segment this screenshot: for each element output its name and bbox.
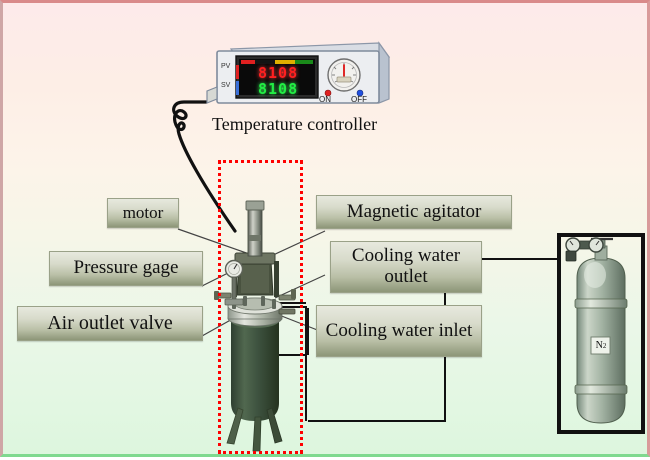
label-cooling-water-inlet[interactable]: Cooling water inlet [316,305,482,357]
label-pressure-gage[interactable]: Pressure gage [49,251,203,286]
regulator-adjust-knob [566,251,576,261]
figure-canvas: PV SV 8108 8108 ON OFF Temperature contr… [0,0,650,457]
n2-symbol: N [596,340,603,351]
n2-subscript: 2 [603,342,607,350]
cylinder-band-lower [575,385,627,394]
cylinder-band-upper [575,299,627,308]
label-air-outlet-valve[interactable]: Air outlet valve [17,306,203,341]
label-cooling-water-outlet[interactable]: Cooling water outlet [330,241,482,293]
label-motor[interactable]: motor [107,198,179,228]
cylinder-highlight [584,262,606,288]
label-magnetic-agitator[interactable]: Magnetic agitator [316,195,512,229]
n2-label-text: N2 [593,337,609,354]
nitrogen-cylinder[interactable] [3,3,650,460]
